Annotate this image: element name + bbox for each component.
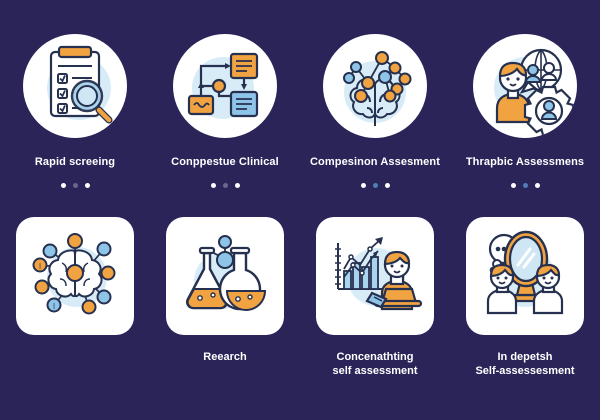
flowchart-icon bbox=[173, 34, 277, 138]
flowchart-circle bbox=[173, 34, 277, 138]
bottom-item-label: In depetsh Self-assessesment bbox=[475, 350, 574, 378]
dot-1[interactable] bbox=[211, 183, 216, 188]
flasks-card bbox=[166, 217, 284, 335]
infographic-board: Rapid screeing bbox=[0, 0, 600, 420]
dot-2[interactable] bbox=[523, 183, 528, 188]
pagination-dots[interactable] bbox=[511, 183, 540, 188]
top-item-clinical[interactable]: Conppestue Clinical bbox=[150, 34, 300, 214]
bottom-item-concentrating[interactable]: Concenathting self assessment bbox=[300, 217, 450, 417]
pagination-dots[interactable] bbox=[361, 183, 390, 188]
brain-network-icon bbox=[323, 34, 427, 138]
bottom-item-label: Concenathting self assessment bbox=[333, 350, 418, 378]
dot-1[interactable] bbox=[361, 183, 366, 188]
brain-nodes-icon: I I bbox=[20, 221, 130, 331]
person-speech-gear-icon bbox=[473, 34, 577, 138]
top-item-label: Rapid screeing bbox=[35, 156, 115, 169]
brain-network-circle bbox=[323, 34, 427, 138]
top-item-therapeutic[interactable]: Thrapbic Assessmens bbox=[450, 34, 600, 214]
top-icon-row: Rapid screeing bbox=[0, 34, 600, 214]
bottom-item-research[interactable]: Reearch bbox=[150, 217, 300, 417]
top-item-label: Thrapbic Assessmens bbox=[466, 156, 584, 169]
pagination-dots[interactable] bbox=[211, 183, 240, 188]
dot-3[interactable] bbox=[85, 183, 90, 188]
top-item-label: Conppestue Clinical bbox=[171, 156, 279, 169]
bottom-item-label: Reearch bbox=[203, 350, 246, 364]
mirror-two-people-card bbox=[466, 217, 584, 335]
chart-person-laptop-icon bbox=[320, 221, 430, 331]
top-item-rapid-screening[interactable]: Rapid screeing bbox=[0, 34, 150, 214]
clipboard-magnifier-icon bbox=[23, 34, 127, 138]
dot-1[interactable] bbox=[511, 183, 516, 188]
top-item-comprehension[interactable]: Compesinon Assesment bbox=[300, 34, 450, 214]
chart-person-laptop-card bbox=[316, 217, 434, 335]
dot-3[interactable] bbox=[235, 183, 240, 188]
dot-3[interactable] bbox=[385, 183, 390, 188]
pagination-dots[interactable] bbox=[61, 183, 90, 188]
dot-1[interactable] bbox=[61, 183, 66, 188]
bottom-card-row: I I bbox=[0, 217, 600, 417]
clipboard-magnifier-circle bbox=[23, 34, 127, 138]
brain-nodes-card: I I bbox=[16, 217, 134, 335]
flasks-icon bbox=[170, 221, 280, 331]
dot-2[interactable] bbox=[373, 183, 378, 188]
dot-2[interactable] bbox=[223, 183, 228, 188]
mirror-two-people-icon bbox=[470, 221, 580, 331]
top-item-label: Compesinon Assesment bbox=[310, 156, 440, 169]
person-speech-gear-circle bbox=[473, 34, 577, 138]
dot-2[interactable] bbox=[73, 183, 78, 188]
bottom-item-brain-nodes[interactable]: I I bbox=[0, 217, 150, 417]
dot-3[interactable] bbox=[535, 183, 540, 188]
bottom-item-in-depth[interactable]: In depetsh Self-assessesment bbox=[450, 217, 600, 417]
